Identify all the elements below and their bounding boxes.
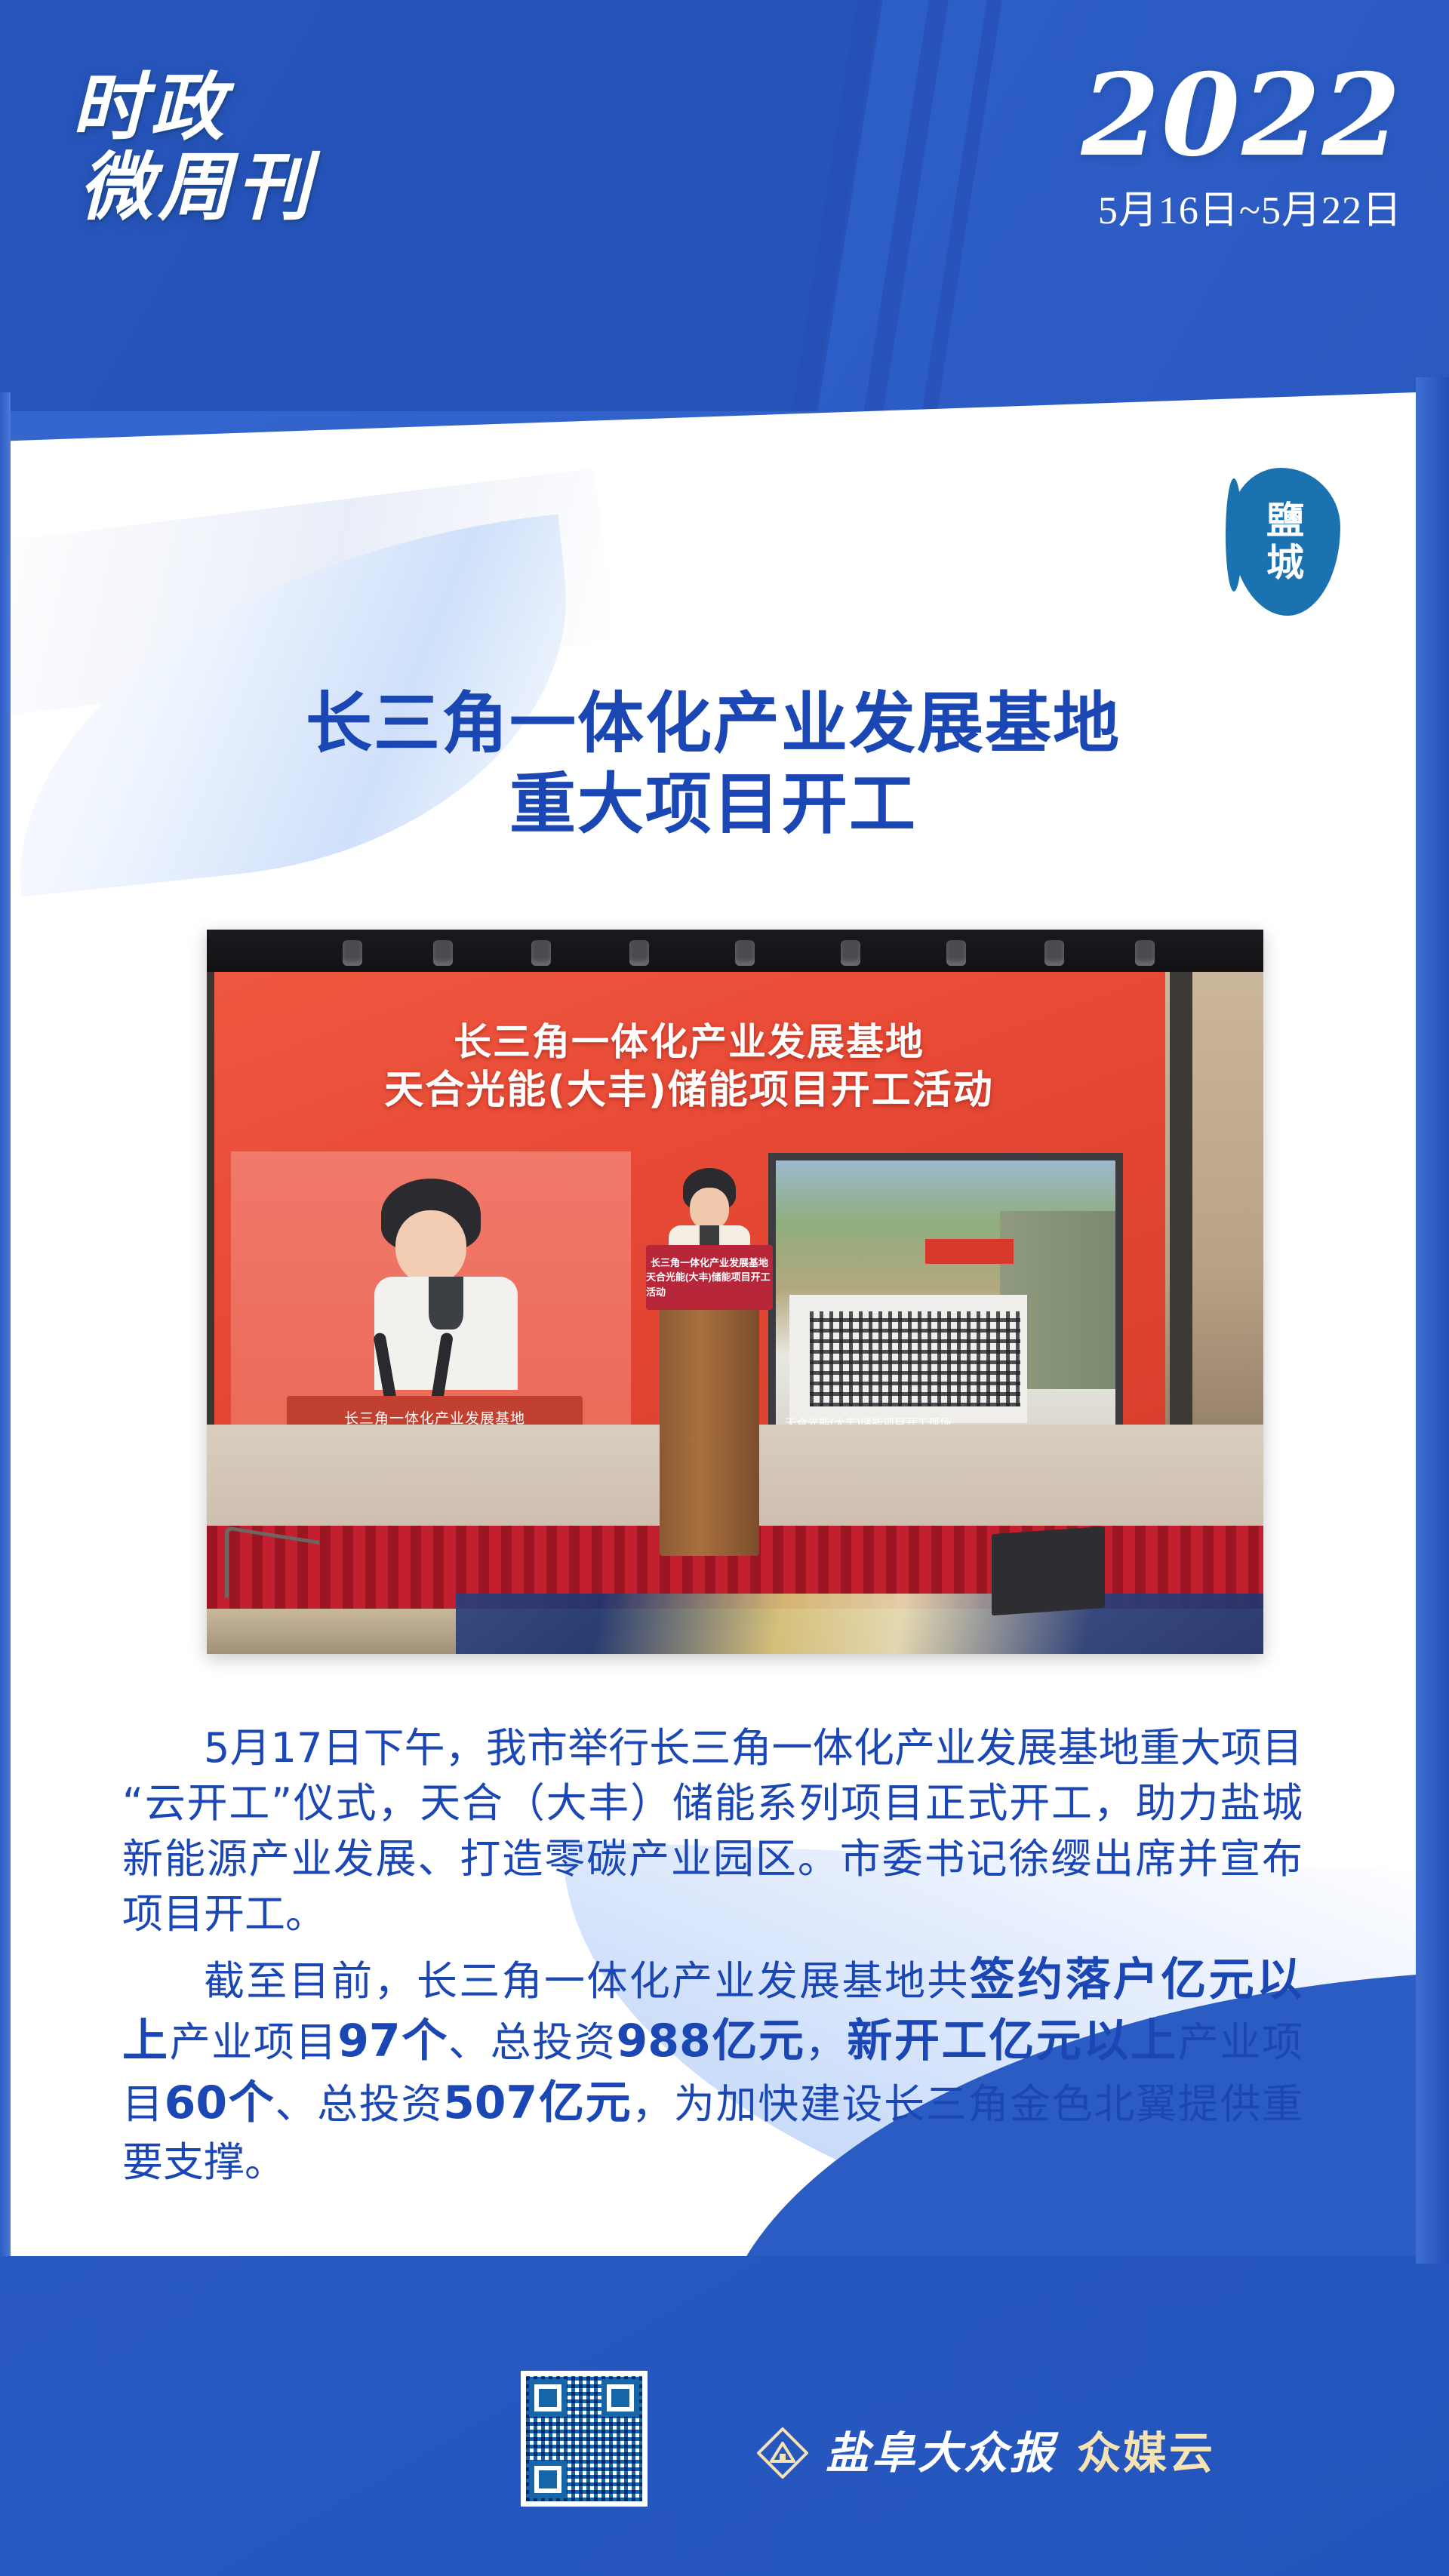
poster-footer: 盐阜大众报 众媒云 <box>0 2252 1449 2576</box>
publisher-name-secondary: 众媒云 <box>1077 2431 1215 2475</box>
p2-number-1: 97个 <box>337 2015 448 2067</box>
headline-line-1: 长三角一体化产业发展基地 <box>306 684 1121 762</box>
qr-code[interactable] <box>521 2371 648 2507</box>
photo-stage-lights <box>207 934 1263 973</box>
masthead-line-1: 时政 <box>72 68 389 148</box>
photo-stage-rail <box>225 1526 319 1612</box>
badge-char-1: 鹽 <box>1266 502 1304 539</box>
aerial-banner <box>925 1239 1014 1264</box>
masthead-title: 时政 微周刊 <box>72 68 389 228</box>
card-right-edge <box>1416 377 1449 2264</box>
aerial-site-view: 天合光能(大丰)储能项目开工现场 <box>776 1160 1115 1440</box>
p2-text-6: 、总投资 <box>275 2080 443 2128</box>
article-headline: 长三角一体化产业发展基地 重大项目开工 <box>11 683 1416 845</box>
photo-left-wall <box>207 972 214 1425</box>
publisher-logo-icon <box>755 2425 811 2481</box>
qr-code-matrix <box>526 2376 642 2501</box>
issue-info: 2022 5月16日~5月22日 <box>1081 59 1402 231</box>
podium-caption-line-2: 天合光能(大丰)储能项目开工活动 <box>646 1270 773 1299</box>
led-title-line-1: 长三角一体化产业发展基地 <box>213 1019 1165 1066</box>
card-left-edge <box>0 392 11 2256</box>
publisher-name-primary: 盐阜大众报 <box>826 2431 1056 2475</box>
p2-number-2: 988亿元 <box>617 2015 805 2067</box>
badge-text: 鹽 城 <box>1230 468 1340 616</box>
p2-bold-2: 新开工亿元以上 <box>847 2015 1177 2067</box>
publisher-brand: 盐阜大众报 众媒云 <box>755 2425 1215 2481</box>
article-card-inner: 鹽 城 长三角一体化产业发展基地 重大项目开工 长三角一 <box>11 392 1416 2256</box>
photo-right-wall <box>1165 972 1263 1470</box>
issue-year: 2022 <box>1081 59 1402 172</box>
masthead-line-2: 微周刊 <box>72 148 389 228</box>
aerial-crowd <box>810 1311 1020 1406</box>
photo-stage-monitor <box>992 1526 1105 1615</box>
article-card: 鹽 城 长三角一体化产业发展基地 重大项目开工 长三角一 <box>11 392 1416 2256</box>
qr-finder-top-right <box>601 2379 639 2417</box>
podium-caption-line-1: 长三角一体化产业发展基地 <box>651 1256 768 1271</box>
led-right-video-panel: 天合光能(大丰)储能项目开工现场 <box>768 1153 1123 1447</box>
led-screen-title: 长三角一体化产业发展基地 天合光能(大丰)储能项目开工活动 <box>213 1019 1165 1115</box>
poster-root: 时政 微周刊 2022 5月16日~5月22日 鹽 城 长三角一体化产业发展 <box>0 0 1449 2576</box>
video-speaker-figure <box>374 1179 488 1390</box>
p2-text-3: 、总投资 <box>448 2018 617 2066</box>
article-paragraph-2: 截至目前，长三角一体化产业发展基地共签约落户亿元以上产业项目97个、总投资988… <box>122 1950 1303 2190</box>
p2-number-3: 60个 <box>165 2076 275 2129</box>
p2-text-2: 产业项目 <box>170 2018 338 2066</box>
headline-line-2: 重大项目开工 <box>11 764 1416 844</box>
p2-text-1: 截至目前，长三角一体化产业发展基地共 <box>204 1957 970 2005</box>
issue-date-range: 5月16日~5月22日 <box>1081 192 1402 231</box>
badge-char-2: 城 <box>1266 544 1304 582</box>
photo-carpet <box>456 1594 1263 1654</box>
poster-header: 时政 微周刊 2022 5月16日~5月22日 <box>0 0 1449 411</box>
p2-number-4: 507亿元 <box>443 2076 632 2129</box>
article-body: 5月17日下午，我市举行长三角一体化产业发展基地重大项目“云开工”仪式，天合（大… <box>122 1720 1303 2197</box>
city-badge: 鹽 城 <box>1230 468 1340 616</box>
p2-text-4: ， <box>805 2018 848 2066</box>
led-left-video-panel: 长三角一体化产业发展基地 <box>231 1151 631 1446</box>
photo-podium-sign: 长三角一体化产业发展基地 天合光能(大丰)储能项目开工活动 <box>646 1245 773 1310</box>
led-title-line-2: 天合光能(大丰)储能项目开工活动 <box>213 1066 1165 1115</box>
podium-sign-text: 长三角一体化产业发展基地 天合光能(大丰)储能项目开工活动 <box>646 1245 773 1310</box>
qr-finder-top-left <box>529 2379 567 2417</box>
qr-finder-bottom-left <box>529 2461 567 2498</box>
article-paragraph-1: 5月17日下午，我市举行长三角一体化产业发展基地重大项目“云开工”仪式，天合（大… <box>122 1720 1303 1942</box>
article-photo: 长三角一体化产业发展基地 天合光能(大丰)储能项目开工活动 长三角一体化产业发展… <box>207 930 1263 1654</box>
